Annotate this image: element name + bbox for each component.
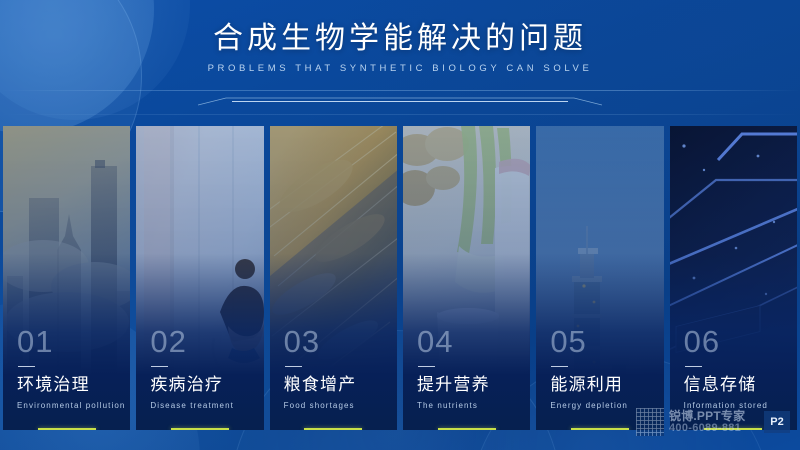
card-06-information-stored[interactable]: 06 信息存储 Information stored [670,126,797,430]
card-02-title-cn: 疾病治疗 [150,375,255,395]
card-02-title-en: Disease treatment [150,401,255,410]
watermark-phone: 400-6089-881 [669,423,745,435]
card-04-title-cn: 提升营养 [417,375,522,395]
card-01-number: 01 [17,326,122,357]
card-01-environmental-pollution[interactable]: 01 环境治理 Environmental pollution [3,126,130,430]
card-03-accent-line [304,428,362,430]
card-01-body: 01 环境治理 Environmental pollution [17,326,122,410]
card-01-divider [18,366,35,367]
background-hairline-top [0,90,800,91]
card-03-divider [285,366,302,367]
slide: 合成生物学能解决的问题 PROBLEMS THAT SYNTHETIC BIOL… [0,0,800,450]
card-01-accent-line [38,428,96,430]
card-06-number: 06 [684,326,789,357]
card-03-title-cn: 粮食增产 [284,375,389,395]
slide-header: 合成生物学能解决的问题 PROBLEMS THAT SYNTHETIC BIOL… [0,20,800,74]
card-03-food-shortages[interactable]: 03 粮食增产 Food shortages [270,126,397,430]
card-05-number: 05 [550,326,655,357]
card-02-divider [151,366,168,367]
card-03-title-en: Food shortages [284,401,389,410]
card-04-divider [418,366,435,367]
card-05-body: 05 能源利用 Energy depletion [550,326,655,410]
page-number-badge: P2 [764,411,790,433]
card-06-title-cn: 信息存储 [684,375,789,395]
card-02-number: 02 [150,326,255,357]
page-title: 合成生物学能解决的问题 [0,20,800,58]
card-06-body: 06 信息存储 Information stored [684,326,789,410]
card-02-accent-line [171,428,229,430]
card-02-body: 02 疾病治疗 Disease treatment [150,326,255,410]
card-01-title-cn: 环境治理 [17,375,122,395]
background-hairline-bottom [0,114,800,115]
card-05-accent-line [571,428,629,430]
card-06-divider [685,366,702,367]
card-03-body: 03 粮食增产 Food shortages [284,326,389,410]
card-04-body: 04 提升营养 The nutrients [417,326,522,410]
card-02-disease-treatment[interactable]: 02 疾病治疗 Disease treatment [136,126,263,430]
card-04-number: 04 [417,326,522,357]
title-underline-decoration [198,97,602,106]
card-row: 01 环境治理 Environmental pollution [3,126,797,430]
page-subtitle: PROBLEMS THAT SYNTHETIC BIOLOGY CAN SOLV… [0,63,800,74]
card-05-title-cn: 能源利用 [550,375,655,395]
qr-code-icon [636,408,664,436]
card-01-title-en: Environmental pollution [17,401,122,410]
watermark: 锐博.PPT专家 400-6089-881 P2 [636,404,790,440]
watermark-text: 锐博.PPT专家 400-6089-881 [669,410,745,434]
card-05-energy-depletion[interactable]: 05 能源利用 Energy depletion [536,126,663,430]
card-04-title-en: The nutrients [417,401,522,410]
card-04-the-nutrients[interactable]: 04 提升营养 The nutrients [403,126,530,430]
card-04-accent-line [438,428,496,430]
watermark-brand: 锐博.PPT专家 [669,410,745,423]
card-05-divider [551,366,568,367]
card-03-number: 03 [284,326,389,357]
